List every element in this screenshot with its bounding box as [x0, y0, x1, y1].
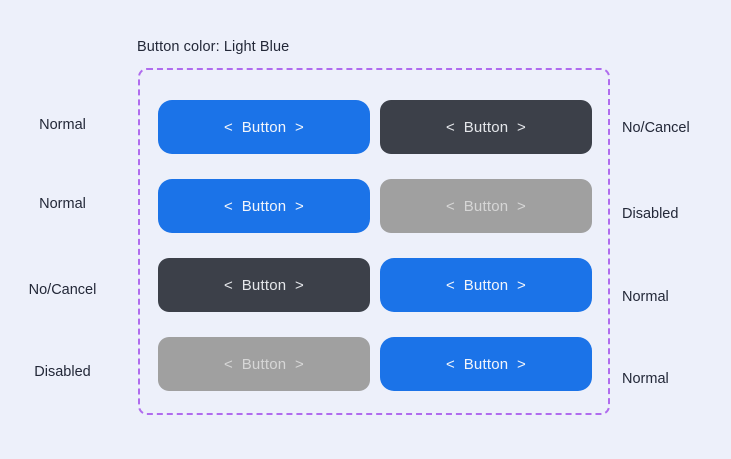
- button-row: Disabled < Button > < Button > Normal: [0, 337, 731, 391]
- row-label-left: Normal: [0, 117, 125, 133]
- row-label-right: Normal: [622, 371, 731, 387]
- button-normal[interactable]: < Button >: [380, 258, 592, 312]
- row-label-right: Normal: [622, 289, 731, 305]
- row-label-left: No/Cancel: [0, 282, 125, 298]
- row-label-left: Normal: [0, 196, 125, 212]
- button-disabled: < Button >: [380, 179, 592, 233]
- screen-canvas: Button color: Light Blue Normal < Button…: [0, 0, 731, 459]
- button-normal[interactable]: < Button >: [158, 179, 370, 233]
- button-no-cancel[interactable]: < Button >: [158, 258, 370, 312]
- button-row: Normal < Button > < Button > No/Cancel: [0, 100, 731, 154]
- button-row: Normal < Button > < Button > Disabled: [0, 179, 731, 233]
- row-label-right: No/Cancel: [622, 120, 731, 136]
- button-normal[interactable]: < Button >: [158, 100, 370, 154]
- row-label-right: Disabled: [622, 206, 731, 222]
- row-label-left: Disabled: [0, 364, 125, 380]
- button-no-cancel[interactable]: < Button >: [380, 100, 592, 154]
- button-disabled: < Button >: [158, 337, 370, 391]
- button-normal[interactable]: < Button >: [380, 337, 592, 391]
- button-row: No/Cancel < Button > < Button > Normal: [0, 258, 731, 312]
- button-grid: Normal < Button > < Button > No/Cancel N…: [0, 0, 731, 459]
